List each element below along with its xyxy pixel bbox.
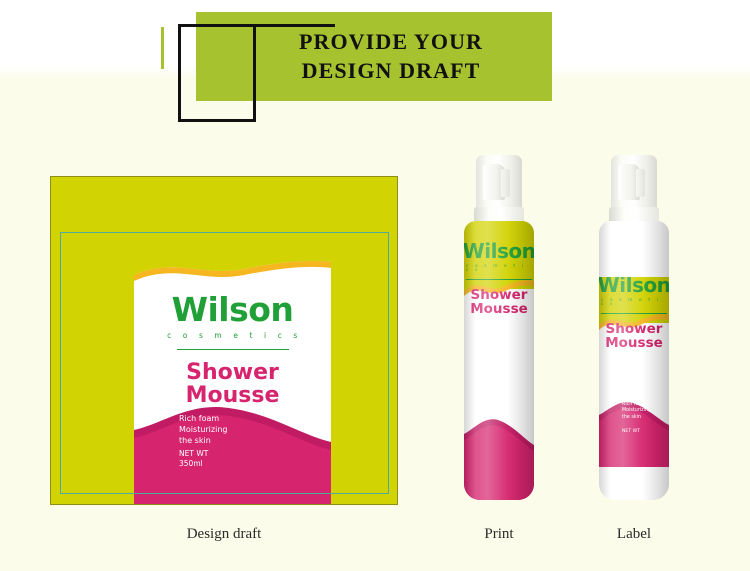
print-bottle-body: Wilson c o s m e t i c s Shower Mousse R… bbox=[464, 221, 534, 500]
brand-subtitle: c o s m e t i c s bbox=[163, 332, 302, 340]
pump-dispenser-icon bbox=[610, 155, 658, 230]
brand-name: Wilson bbox=[172, 293, 294, 326]
product-name-line-2: Mousse bbox=[470, 301, 528, 317]
label-bottom-wave-icon bbox=[134, 386, 331, 505]
claim-line-3: the skin bbox=[622, 415, 641, 420]
brand-divider bbox=[601, 313, 667, 314]
net-weight: NET WT bbox=[622, 429, 640, 435]
design-draft-panel: Wilson c o s m e t i c s Shower Mousse R… bbox=[50, 176, 398, 505]
claim-line-1: Rich foam bbox=[487, 322, 511, 327]
net-weight-value: 350ml bbox=[179, 459, 203, 468]
brand-divider bbox=[466, 279, 532, 280]
product-claims: Rich foam Moisturizing the skin bbox=[179, 414, 227, 446]
net-weight-label: NET WT bbox=[179, 449, 208, 458]
design-draft-label-artwork: Wilson c o s m e t i c s Shower Mousse R… bbox=[134, 259, 331, 505]
claim-line-2: Moisturizing bbox=[487, 328, 516, 333]
claim-line-2: Moisturizing bbox=[179, 425, 227, 434]
print-bottom-wave-icon bbox=[464, 408, 534, 500]
applied-label-sticker: Wilson c o s m e t i c s Shower Mousse R… bbox=[599, 277, 669, 467]
product-name-line-2: Mousse bbox=[605, 335, 663, 351]
brand-name: Wilson bbox=[599, 277, 669, 295]
label-bottle: Wilson c o s m e t i c s Shower Mousse R… bbox=[599, 155, 669, 500]
claim-line-3: the skin bbox=[179, 436, 211, 445]
pump-dispenser-icon bbox=[475, 155, 523, 230]
brand-name: Wilson bbox=[464, 241, 534, 261]
header-accent-line bbox=[161, 27, 164, 69]
product-showcase-page: PROVIDE YOUR DESIGN DRAFT Wilson c o s m… bbox=[0, 0, 750, 571]
caption-print: Print bbox=[464, 526, 534, 543]
brand-divider bbox=[177, 349, 289, 350]
claim-line-2: Moisturizing bbox=[622, 408, 651, 413]
claim-line-1: Rich foam bbox=[622, 402, 646, 407]
product-claims: Rich foam Moisturizing the skin bbox=[487, 322, 516, 341]
net-weight: NET WT 350ml bbox=[179, 449, 208, 469]
product-name-line-1: Shower bbox=[186, 360, 279, 385]
page-title-line-1: PROVIDE YOUR bbox=[299, 28, 483, 56]
brand-subtitle: c o s m e t i c s bbox=[599, 299, 669, 308]
page-title-line-2: DESIGN DRAFT bbox=[302, 57, 481, 85]
net-weight-label: NET WT bbox=[487, 344, 505, 349]
print-bottle: Wilson c o s m e t i c s Shower Mousse R… bbox=[464, 155, 534, 500]
product-name: Shower Mousse bbox=[605, 322, 663, 351]
page-title: PROVIDE YOUR DESIGN DRAFT bbox=[196, 12, 552, 101]
product-claims: Rich foam Moisturizing the skin bbox=[622, 402, 651, 421]
net-weight: NET WT bbox=[487, 344, 505, 350]
net-weight-label: NET WT bbox=[622, 429, 640, 434]
claim-line-1: Rich foam bbox=[179, 414, 219, 423]
label-bottle-body: Wilson c o s m e t i c s Shower Mousse R… bbox=[599, 221, 669, 500]
print-bottle-artwork: Wilson c o s m e t i c s Shower Mousse R… bbox=[464, 221, 534, 500]
claim-line-3: the skin bbox=[487, 335, 506, 340]
brand-subtitle: c o s m e t i c s bbox=[464, 265, 534, 274]
product-name: Shower Mousse bbox=[470, 288, 528, 317]
caption-design-draft: Design draft bbox=[50, 526, 398, 543]
caption-label: Label bbox=[599, 526, 669, 543]
